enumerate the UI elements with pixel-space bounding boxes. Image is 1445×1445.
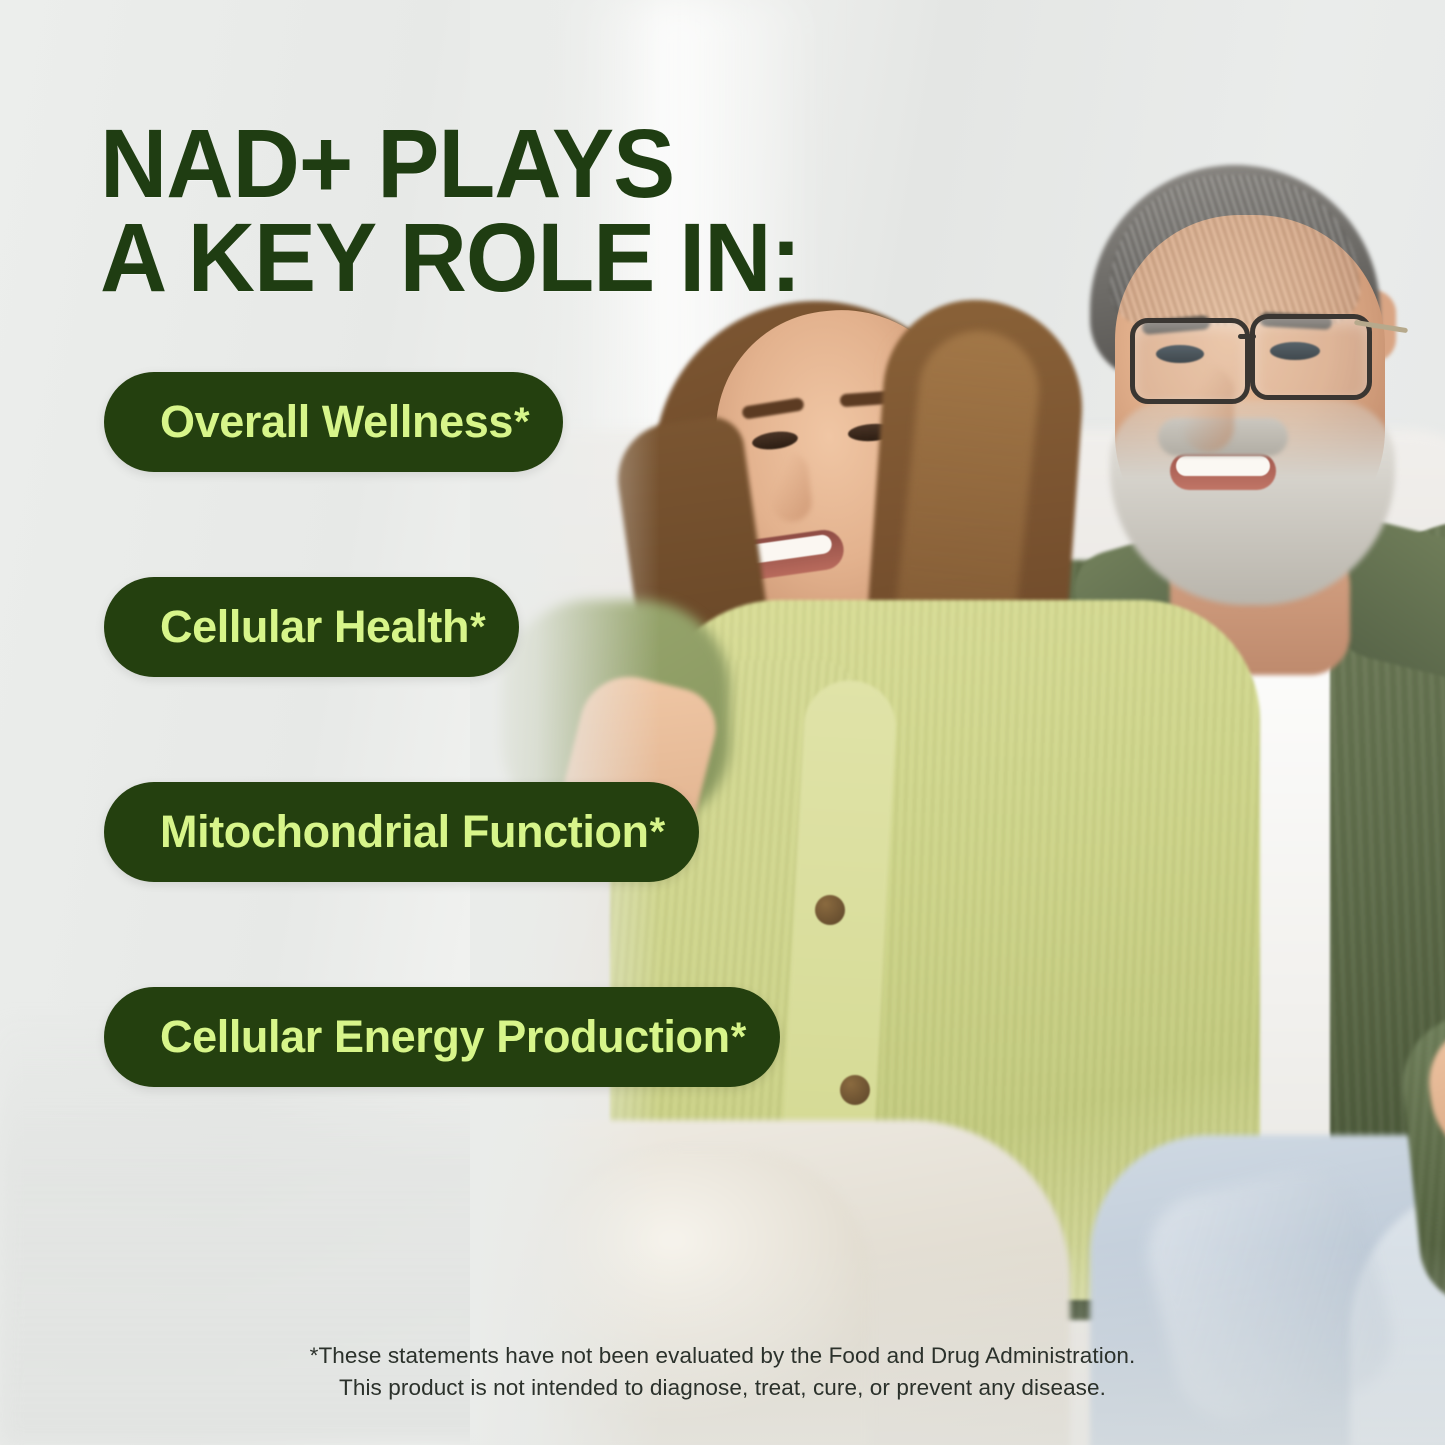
- benefit-label: Cellular Energy Production: [160, 1011, 730, 1063]
- benefit-pill-cellular-energy-production[interactable]: Cellular Energy Production*: [104, 987, 780, 1087]
- man-glasses-bridge: [1238, 334, 1256, 339]
- man-glasses-lens-left: [1130, 318, 1250, 404]
- benefits-list: Overall Wellness* Cellular Health* Mitoc…: [104, 372, 780, 1087]
- asterisk-marker: *: [470, 607, 485, 647]
- benefit-pill-cellular-health[interactable]: Cellular Health*: [104, 577, 519, 677]
- asterisk-marker: *: [731, 1017, 746, 1057]
- benefit-label: Mitochondrial Function: [160, 806, 649, 858]
- promo-graphic: NAD+ PLAYS A KEY ROLE IN: Overall Wellne…: [0, 0, 1445, 1445]
- fda-disclaimer: *These statements have not been evaluate…: [0, 1340, 1445, 1404]
- benefit-label: Overall Wellness: [160, 396, 513, 448]
- woman-cardigan-button-2: [840, 1075, 870, 1105]
- asterisk-marker: *: [514, 402, 529, 442]
- asterisk-marker: *: [650, 812, 665, 852]
- man-glasses-lens-right: [1250, 314, 1372, 400]
- benefit-pill-overall-wellness[interactable]: Overall Wellness*: [104, 372, 563, 472]
- page-title: NAD+ PLAYS A KEY ROLE IN:: [100, 117, 1060, 305]
- benefit-label: Cellular Health: [160, 601, 469, 653]
- man-teeth: [1176, 456, 1270, 476]
- benefit-pill-mitochondrial-function[interactable]: Mitochondrial Function*: [104, 782, 699, 882]
- woman-cardigan-button-1: [815, 895, 845, 925]
